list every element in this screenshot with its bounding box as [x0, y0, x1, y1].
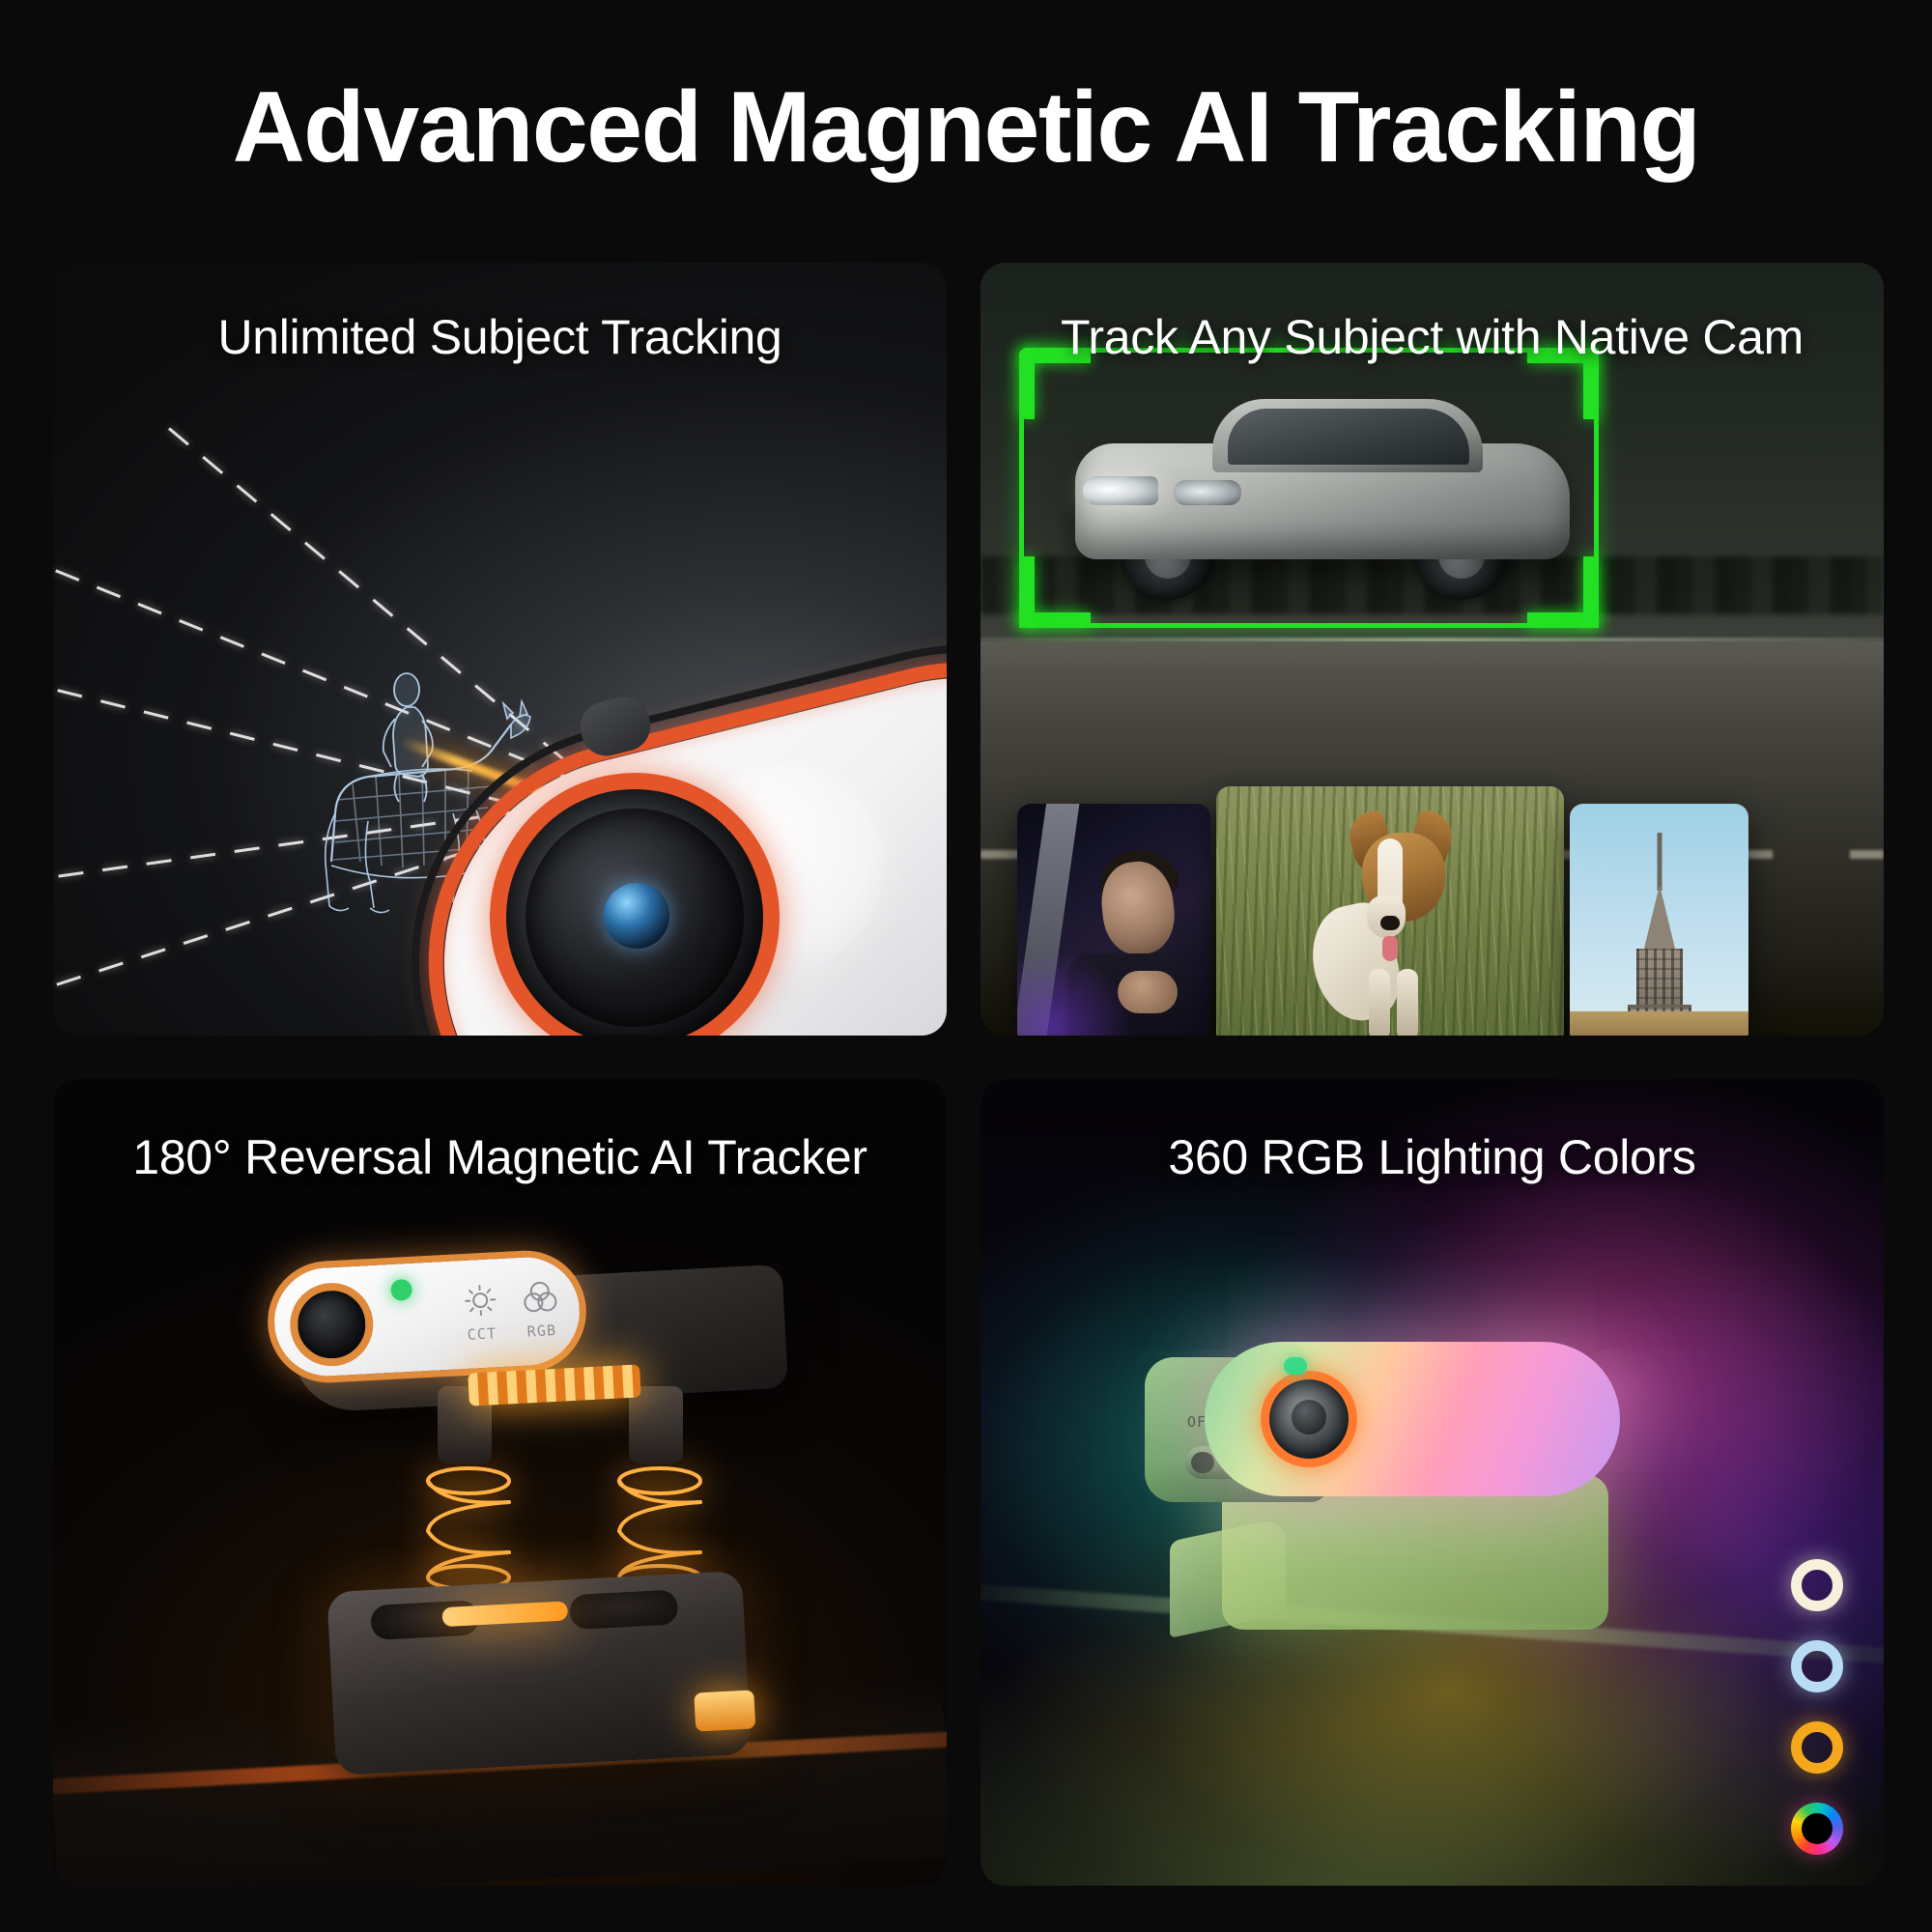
- cct-label: CCT: [467, 1324, 497, 1344]
- panel-title-unlimited-subject-tracking: Unlimited Subject Tracking: [53, 309, 947, 365]
- base-socket: [569, 1589, 679, 1630]
- rgb-circles-icon: [520, 1279, 560, 1320]
- thumbnail-image: [1570, 804, 1748, 1036]
- panel-rgb-lighting-colors[interactable]: OFF ON 360 RGB Lighting Colors: [980, 1079, 1884, 1886]
- panel-track-any-subject[interactable]: Track Any Subject with Native Cam: [980, 263, 1884, 1036]
- tracker-base: [327, 1571, 751, 1776]
- subject-thumbnail-strip: [998, 784, 1866, 1036]
- tower-building-thumbnail[interactable]: [1570, 804, 1748, 1036]
- lens-barrel: [526, 809, 744, 1027]
- brightness-sun-icon: [460, 1282, 500, 1322]
- thumbnail-image: [1017, 804, 1210, 1036]
- page-title: Advanced Magnetic AI Tracking: [0, 75, 1932, 181]
- status-led: [390, 1279, 412, 1301]
- bracket-corner-bottom-right: [1527, 556, 1599, 628]
- lens-glass: [604, 883, 669, 949]
- ai-tracking-bracket: [1019, 348, 1599, 628]
- warm-white-swatch[interactable]: [1791, 1559, 1843, 1611]
- magnetic-post: [629, 1386, 683, 1463]
- camera-lens: [1261, 1371, 1357, 1467]
- magnetic-coil: [411, 1463, 526, 1589]
- feature-grid: Unlimited Subject Tracking: [53, 263, 1884, 1886]
- rgb-light-panel: [1205, 1342, 1620, 1496]
- tracker-front-face: CCT RGB: [265, 1247, 589, 1385]
- bracket-corner-bottom-left: [1019, 556, 1091, 628]
- dog-in-grass-thumbnail[interactable]: [1216, 786, 1564, 1036]
- panel-title-reversal-magnetic-tracker: 180° Reversal Magnetic AI Tracker: [53, 1129, 947, 1185]
- product-feature-page: Advanced Magnetic AI Tracking: [0, 0, 1932, 1932]
- status-led: [1284, 1357, 1307, 1375]
- cct-control[interactable]: CCT: [460, 1282, 501, 1344]
- rgb-label: RGB: [526, 1321, 557, 1341]
- panel-title-track-any-subject: Track Any Subject with Native Cam: [980, 309, 1884, 365]
- tracker-lens: [288, 1281, 375, 1368]
- rgb-rainbow-swatch[interactable]: [1791, 1803, 1843, 1855]
- base-release-tab[interactable]: [694, 1690, 755, 1731]
- panel-unlimited-subject-tracking[interactable]: Unlimited Subject Tracking: [53, 263, 947, 1036]
- magnetic-coil: [602, 1463, 718, 1589]
- cool-white-swatch[interactable]: [1791, 1640, 1843, 1692]
- panel-reversal-magnetic-tracker[interactable]: CCT RGB 180° Reversal Mag: [53, 1079, 947, 1886]
- rgb-control[interactable]: RGB: [520, 1279, 561, 1341]
- lens-glass: [1292, 1400, 1326, 1435]
- panel-title-rgb-lighting-colors: 360 RGB Lighting Colors: [980, 1129, 1884, 1185]
- amber-swatch[interactable]: [1791, 1721, 1843, 1774]
- thumbnail-image: [1216, 786, 1564, 1036]
- lighting-color-swatches: [1791, 1559, 1843, 1855]
- tracker-control-icons: CCT RGB: [460, 1279, 561, 1344]
- person-in-car-thumbnail[interactable]: [1017, 804, 1210, 1036]
